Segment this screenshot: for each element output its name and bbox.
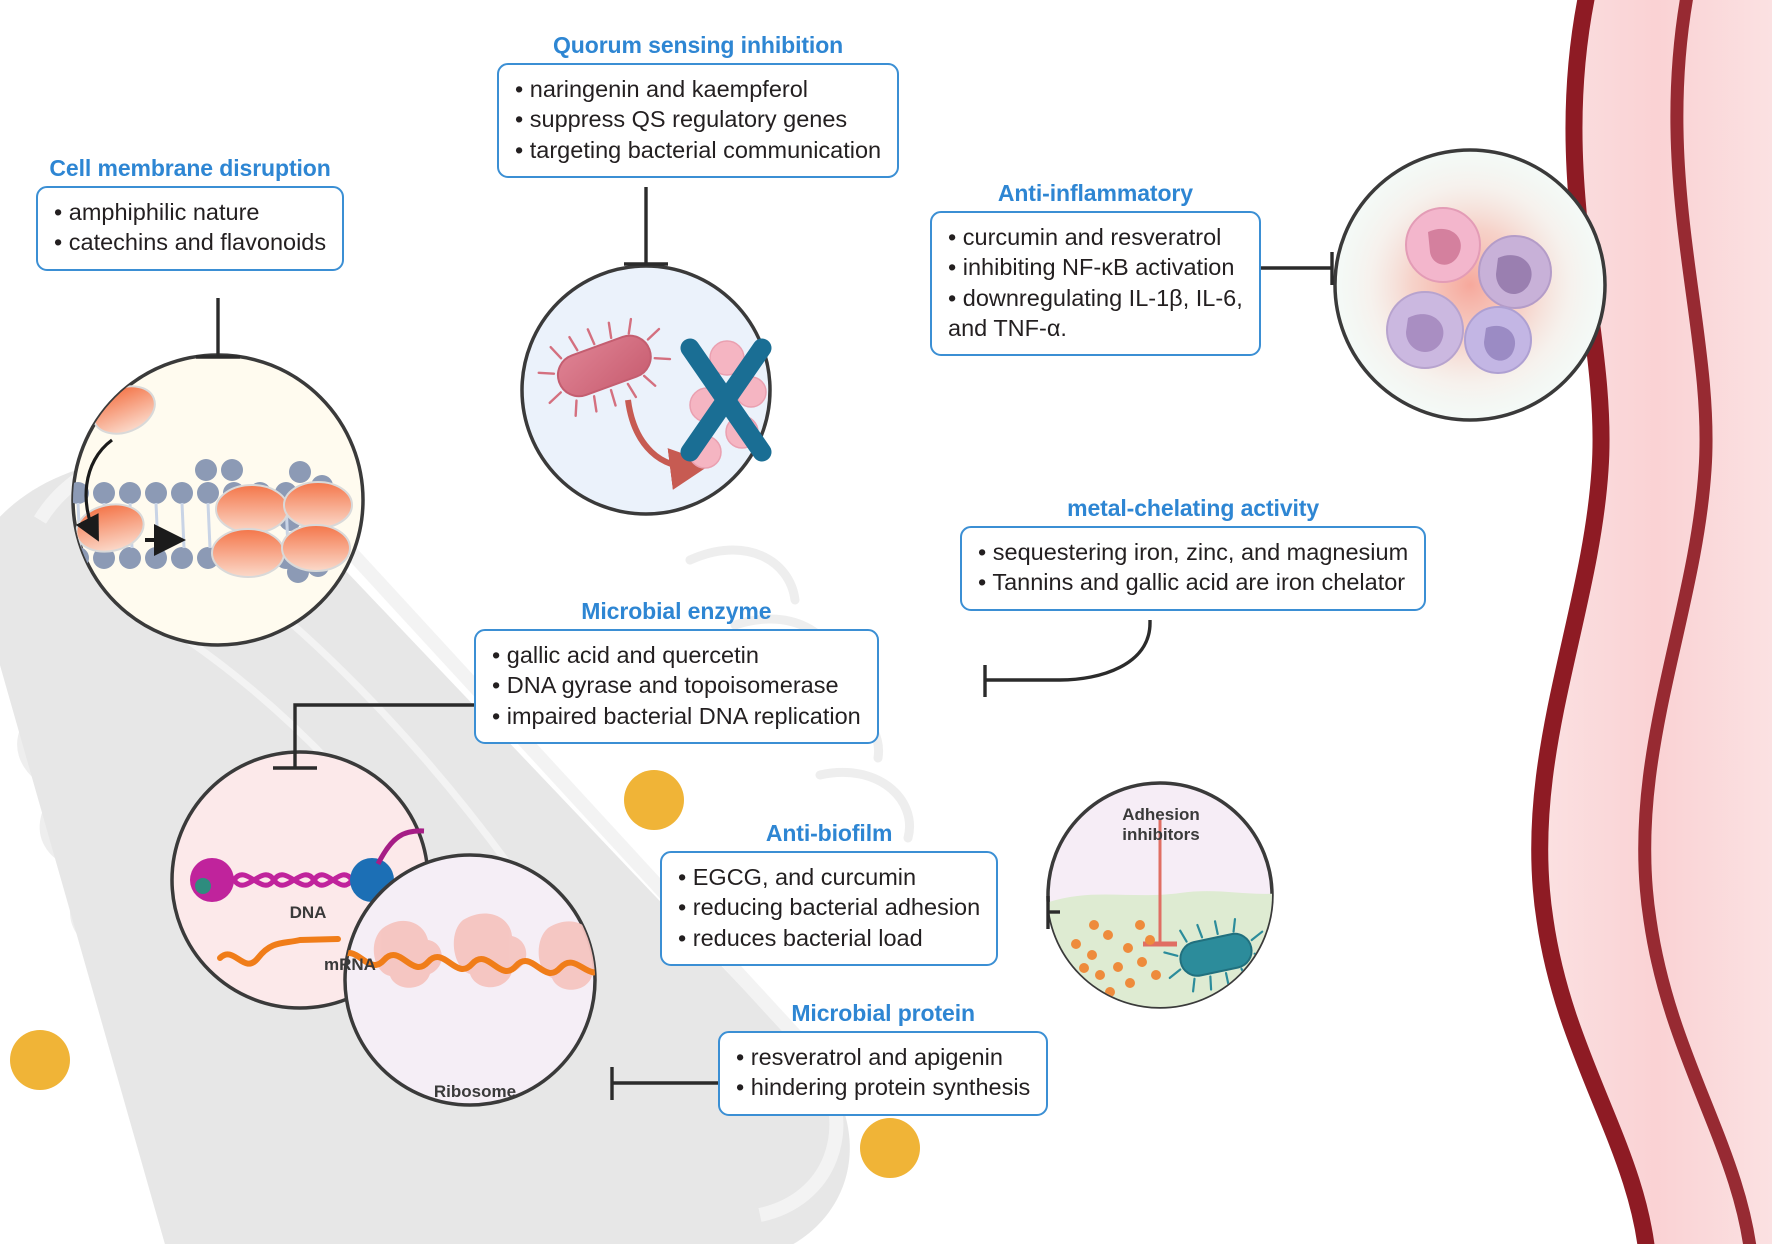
bullet: • hindering protein synthesis xyxy=(736,1072,1030,1102)
ribosome-label: Ribosome xyxy=(420,1082,530,1102)
bullet: • catechins and flavonoids xyxy=(54,227,326,257)
bullet: • targeting bacterial communication xyxy=(515,135,881,165)
bullet: • inhibiting NF-κB activation xyxy=(948,252,1243,282)
callout-title: Cell membrane disruption xyxy=(36,155,344,182)
bullet: • resveratrol and apigenin xyxy=(736,1042,1030,1072)
callout-anti-inflammatory[interactable]: Anti-inflammatory • curcumin and resvera… xyxy=(930,180,1261,356)
blood-vessel xyxy=(1540,0,1772,1244)
leukocyte-3 xyxy=(1387,292,1463,368)
bullet: • Tannins and gallic acid are iron chela… xyxy=(978,567,1408,597)
callout-body: • curcumin and resveratrol • inhibiting … xyxy=(930,211,1261,356)
leukocyte-1 xyxy=(1406,208,1480,282)
bullet: • EGCG, and curcumin xyxy=(678,862,980,892)
callout-title: Anti-biofilm xyxy=(660,820,998,847)
callout-title: Anti-inflammatory xyxy=(930,180,1261,207)
bullet: • downregulating IL-1β, IL-6, xyxy=(948,283,1243,313)
bullet: • DNA gyrase and topoisomerase xyxy=(492,670,861,700)
callout-body: • naringenin and kaempferol • suppress Q… xyxy=(497,63,899,178)
orange-dot-2 xyxy=(10,1030,70,1090)
inflammation-inset xyxy=(1335,150,1605,420)
callout-body: • gallic acid and quercetin • DNA gyrase… xyxy=(474,629,879,744)
mrna-label: mRNA xyxy=(300,955,400,975)
dna-label: DNA xyxy=(263,903,353,923)
callout-anti-biofilm[interactable]: Anti-biofilm • EGCG, and curcumin • redu… xyxy=(660,820,998,966)
callout-body: • resveratrol and apigenin • hindering p… xyxy=(718,1031,1048,1116)
callout-microbial-enzyme[interactable]: Microbial enzyme • gallic acid and querc… xyxy=(474,598,879,744)
callout-cell-membrane-disruption[interactable]: Cell membrane disruption • amphiphilic n… xyxy=(36,155,344,271)
callout-microbial-protein[interactable]: Microbial protein • resveratrol and apig… xyxy=(718,1000,1048,1116)
callout-title: metal-chelating activity xyxy=(960,495,1426,522)
adhesion-inhibitors-label: Adhesion inhibitors xyxy=(1105,805,1217,844)
leukocyte-2 xyxy=(1479,236,1551,308)
bullet: • suppress QS regulatory genes xyxy=(515,104,881,134)
callout-body: • sequestering iron, zinc, and magnesium… xyxy=(960,526,1426,611)
bullet: • sequestering iron, zinc, and magnesium xyxy=(978,537,1408,567)
callout-metal-chelating-activity[interactable]: metal-chelating activity • sequestering … xyxy=(960,495,1426,611)
bullet: • reducing bacterial adhesion xyxy=(678,892,980,922)
orange-dot-3 xyxy=(860,1118,920,1178)
callout-body: • EGCG, and curcumin • reducing bacteria… xyxy=(660,851,998,966)
bullet: • naringenin and kaempferol xyxy=(515,74,881,104)
bullet: • curcumin and resveratrol xyxy=(948,222,1243,252)
callout-quorum-sensing-inhibition[interactable]: Quorum sensing inhibition • naringenin a… xyxy=(497,32,899,178)
bullet: • gallic acid and quercetin xyxy=(492,640,861,670)
bullet-continuation: and TNF-α. xyxy=(948,313,1243,343)
bullet: • impaired bacterial DNA replication xyxy=(492,701,861,731)
bullet: • reduces bacterial load xyxy=(678,923,980,953)
callout-body: • amphiphilic nature • catechins and fla… xyxy=(36,186,344,271)
bullet: • amphiphilic nature xyxy=(54,197,326,227)
figure-canvas: Cell membrane disruption • amphiphilic n… xyxy=(0,0,1772,1244)
callout-title: Quorum sensing inhibition xyxy=(497,32,899,59)
callout-title: Microbial protein xyxy=(718,1000,1048,1027)
leukocyte-4 xyxy=(1465,307,1531,373)
quorum-sensing-inset xyxy=(522,266,770,514)
callout-title: Microbial enzyme xyxy=(474,598,879,625)
